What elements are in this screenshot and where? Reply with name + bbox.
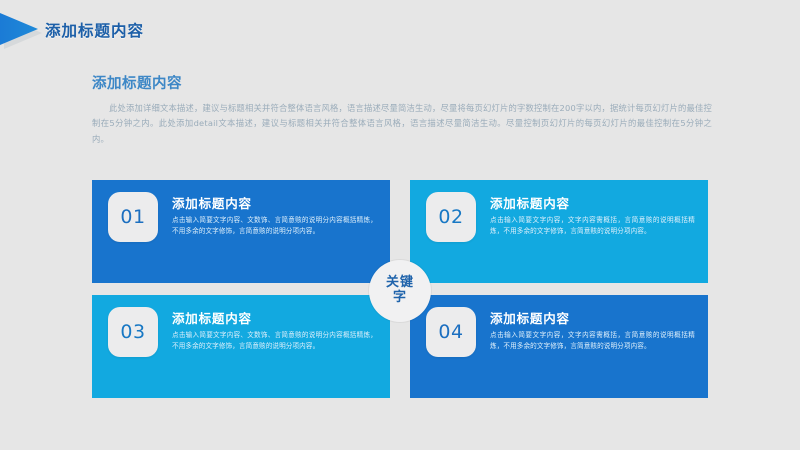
content-card-04[interactable]: 04 添加标题内容 点击输入简要文字内容，文字内容需概括，言简意赅的说明概括精炼… bbox=[410, 295, 708, 398]
card-number-badge: 01 bbox=[108, 192, 158, 242]
card-body: 点击输入简要文字内容、文数饰、言简意赅的说明分内容概括精炼，不用多余的文字修饰，… bbox=[172, 330, 377, 351]
intro-block: 添加标题内容 此处添加详细文本描述，建议与标题相关并符合整体语言风格，语言描述尽… bbox=[92, 72, 712, 147]
card-body: 点击输入简要文字内容，文字内容需概括，言简意赅的说明概括精炼，不用多余的文字修饰… bbox=[490, 330, 695, 351]
keyword-line-2: 字 bbox=[393, 291, 407, 306]
intro-title: 添加标题内容 bbox=[92, 72, 712, 93]
card-number-badge: 03 bbox=[108, 307, 158, 357]
content-card-03[interactable]: 03 添加标题内容 点击输入简要文字内容、文数饰、言简意赅的说明分内容概括精炼，… bbox=[92, 295, 390, 398]
keyword-circle: 关键 字 bbox=[369, 260, 431, 322]
card-title: 添加标题内容 bbox=[172, 308, 377, 327]
card-title: 添加标题内容 bbox=[490, 193, 695, 212]
card-title: 添加标题内容 bbox=[490, 308, 695, 327]
page-title: 添加标题内容 bbox=[45, 19, 144, 41]
content-card-01[interactable]: 01 添加标题内容 点击输入简要文字内容、文数饰、言简意赅的说明分内容概括精炼，… bbox=[92, 180, 390, 283]
card-body: 点击输入简要文字内容、文数饰、言简意赅的说明分内容概括精炼，不用多余的文字修饰，… bbox=[172, 215, 377, 236]
content-card-02[interactable]: 02 添加标题内容 点击输入简要文字内容，文字内容需概括，言简意赅的说明概括精炼… bbox=[410, 180, 708, 283]
card-title: 添加标题内容 bbox=[172, 193, 377, 212]
keyword-line-1: 关键 bbox=[386, 276, 414, 291]
card-number-badge: 04 bbox=[426, 307, 476, 357]
card-number-badge: 02 bbox=[426, 192, 476, 242]
intro-body: 此处添加详细文本描述，建议与标题相关并符合整体语言风格，语言描述尽量简洁生动，尽… bbox=[92, 101, 712, 147]
card-body: 点击输入简要文字内容，文字内容需概括，言简意赅的说明概括精炼，不用多余的文字修饰… bbox=[490, 215, 695, 236]
arrow-right-icon bbox=[0, 11, 42, 49]
slide-header: 添加标题内容 bbox=[0, 0, 800, 62]
